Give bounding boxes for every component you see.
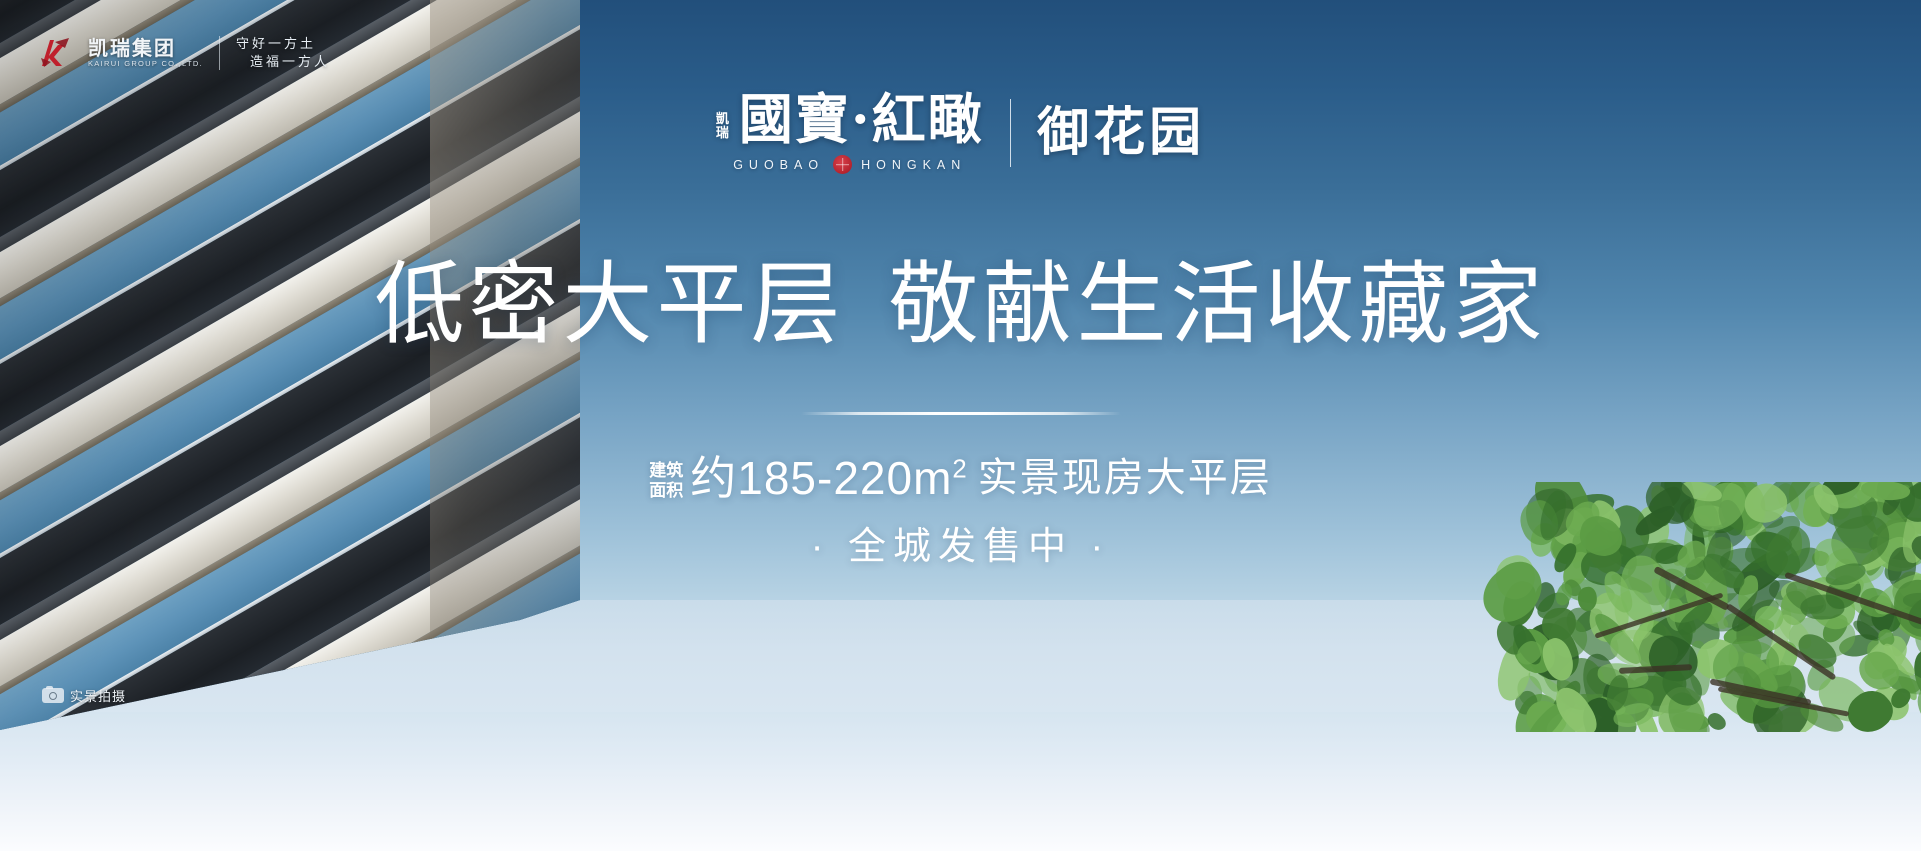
headline-part-2: 敬献生活收藏家 (889, 255, 1547, 355)
pinyin-right: HONGKAN (861, 158, 966, 172)
subtitle-description: 实景现房大平层 (978, 458, 1272, 498)
headline: 低密大平层敬献生活收藏家 (0, 255, 1921, 356)
corporate-name-cn: 凯瑞集团 (88, 39, 203, 59)
project-name-row: 凱 瑞 國寶·紅瞰 (716, 92, 984, 146)
brand-prefix-line-2: 瑞 (716, 126, 729, 140)
corporate-name-en: KAIRUI GROUP CO.,LTD. (88, 60, 203, 68)
project-name-main: 國寶·紅瞰 (739, 92, 984, 146)
area-label-line-1: 建筑 (649, 461, 683, 480)
project-logo[interactable]: 凱 瑞 國寶·紅瞰 GUOBAO HONGKAN 御花园 (0, 92, 1921, 174)
project-brand-prefix: 凱 瑞 (716, 112, 729, 146)
area-label: 建筑 面积 (649, 456, 683, 499)
project-logo-inner: 凱 瑞 國寶·紅瞰 GUOBAO HONGKAN 御花园 (716, 92, 1205, 174)
subtitle: 建筑 面积 约185-220m2 实景现房大平层 (0, 455, 1921, 501)
headline-divider-rule (801, 412, 1121, 415)
photo-credit-label: 实景拍摄 (70, 686, 126, 705)
pinyin-left: GUOBAO (733, 158, 824, 172)
area-label-line-2: 面积 (649, 481, 683, 500)
sales-status: · 全城发售中 · (0, 528, 1921, 566)
project-logo-divider (1010, 99, 1012, 167)
area-unit: m (913, 452, 952, 504)
corporate-name-block: 凯瑞集团 KAIRUI GROUP CO.,LTD. (88, 39, 203, 68)
project-pinyin: GUOBAO HONGKAN (733, 155, 966, 174)
photo-credit: 实景拍摄 (42, 686, 126, 705)
area-unit-exponent: 2 (952, 456, 967, 484)
corporate-slogan: 守好一方土 造福一方人 (236, 37, 330, 70)
tree-canopy (1451, 482, 1921, 732)
footer-band (0, 712, 1921, 851)
camera-icon (42, 688, 64, 703)
promotional-banner: 实景拍摄 凯瑞集团 KAIRUI GROUP CO.,LTD. 守好一方土 造福… (0, 0, 1921, 851)
project-name-secondary: 御花园 (1037, 107, 1205, 159)
kairui-r-monogram-icon (38, 36, 72, 70)
slogan-line-1: 守好一方土 (236, 37, 330, 52)
area-range: 约185-220 (690, 452, 913, 504)
brand-prefix-line-1: 凱 (716, 112, 729, 126)
project-name-group: 凱 瑞 國寶·紅瞰 GUOBAO HONGKAN (716, 92, 984, 174)
red-circular-seal-icon (833, 155, 852, 174)
logo-divider (219, 36, 220, 70)
headline-part-1: 低密大平层 (375, 255, 845, 355)
slogan-line-2: 造福一方人 (236, 55, 330, 70)
area-value: 约185-220m2 (690, 455, 967, 501)
corporate-logo[interactable]: 凯瑞集团 KAIRUI GROUP CO.,LTD. 守好一方土 造福一方人 (38, 36, 330, 70)
